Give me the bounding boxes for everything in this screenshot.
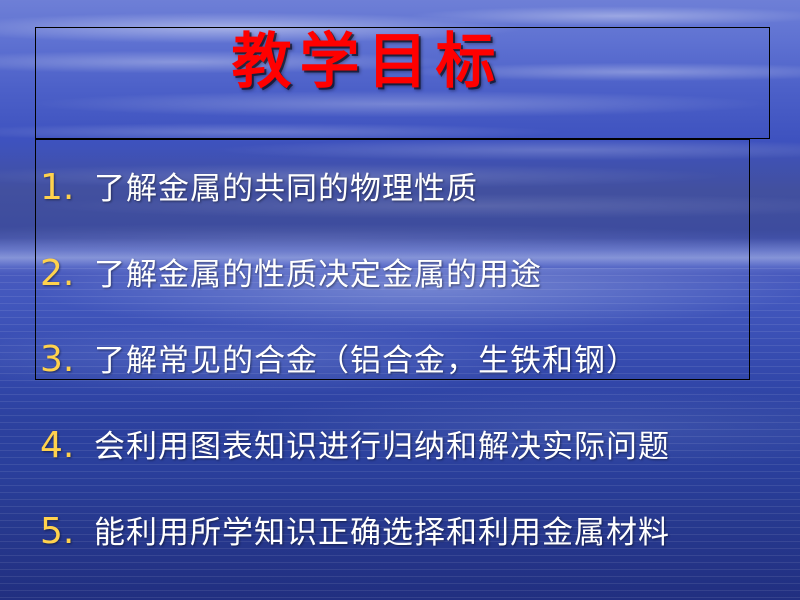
list-item-number: 2. bbox=[40, 253, 94, 294]
list-item-number: 3. bbox=[40, 339, 94, 380]
list-item: 1. 了解金属的共同的物理性质 bbox=[40, 163, 780, 249]
list-item-number: 4. bbox=[40, 425, 94, 466]
objectives-list: 1. 了解金属的共同的物理性质 2. 了解金属的性质决定金属的用途 3. 了解常… bbox=[40, 163, 780, 593]
list-item: 2. 了解金属的性质决定金属的用途 bbox=[40, 249, 780, 335]
list-item-number: 5. bbox=[40, 511, 94, 552]
list-item-text: 能利用所学知识正确选择和利用金属材料 bbox=[94, 507, 670, 552]
list-item-text: 了解常见的合金（铝合金，生铁和钢） bbox=[94, 335, 638, 380]
list-item-text: 了解金属的性质决定金属的用途 bbox=[94, 249, 542, 294]
slide-title: 教学目标 bbox=[0, 0, 735, 112]
list-item: 5. 能利用所学知识正确选择和利用金属材料 bbox=[40, 507, 780, 593]
list-item: 3. 了解常见的合金（铝合金，生铁和钢） bbox=[40, 335, 780, 421]
list-item-number: 1. bbox=[40, 167, 94, 208]
presentation-slide: 教学目标 1. 了解金属的共同的物理性质 2. 了解金属的性质决定金属的用途 3… bbox=[0, 0, 800, 600]
list-item-text: 会利用图表知识进行归纳和解决实际问题 bbox=[94, 421, 670, 466]
list-item-text: 了解金属的共同的物理性质 bbox=[94, 163, 478, 208]
list-item: 4. 会利用图表知识进行归纳和解决实际问题 bbox=[40, 421, 780, 507]
